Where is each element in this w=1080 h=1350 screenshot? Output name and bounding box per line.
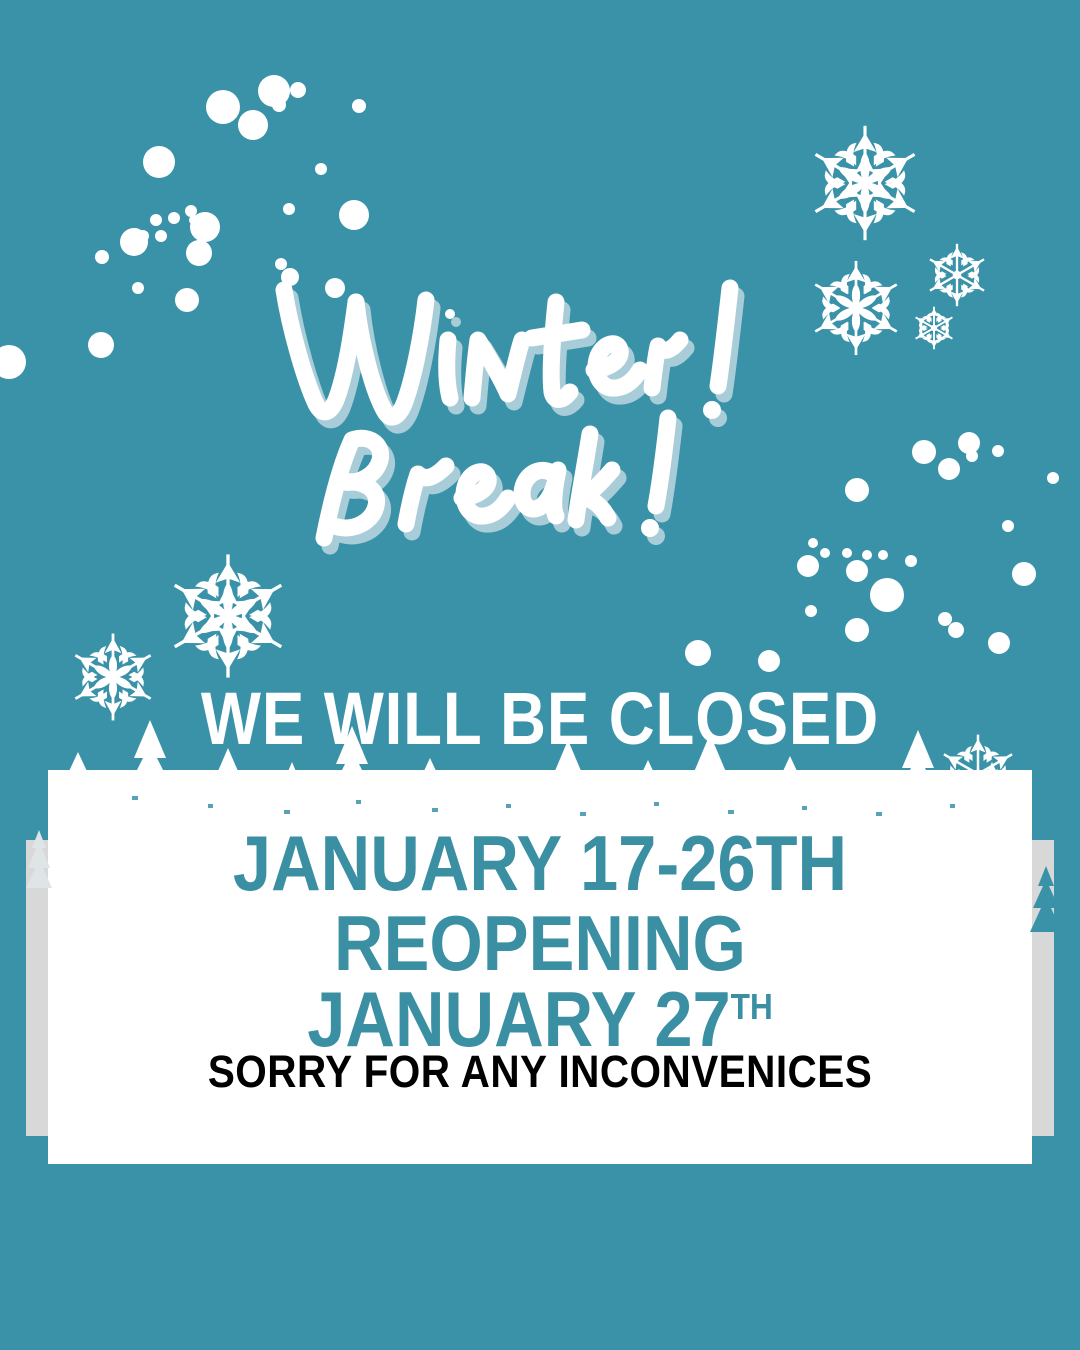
closed-headline: WE WILL BE CLOSED xyxy=(76,676,1005,761)
closure-date-range: JANUARY 17-26TH xyxy=(65,826,1015,900)
reopening-date-ordinal: TH xyxy=(731,987,773,1027)
snowflake-icon xyxy=(800,252,912,364)
reopening-label: REOPENING xyxy=(65,906,1015,980)
snowflake-icon xyxy=(800,118,930,248)
apology-text: SORRY FOR ANY INCONVENICES xyxy=(54,1046,1026,1098)
closure-dates-block: JANUARY 17-26TH REOPENING JANUARY 27TH xyxy=(0,826,1080,1056)
snowflake-icon xyxy=(158,546,298,686)
winter-break-lettering xyxy=(260,258,820,558)
winter-break-poster: WE WILL BE CLOSED JANUARY 17-26TH REOPEN… xyxy=(0,0,1080,1350)
snowflake-icon xyxy=(906,300,962,356)
